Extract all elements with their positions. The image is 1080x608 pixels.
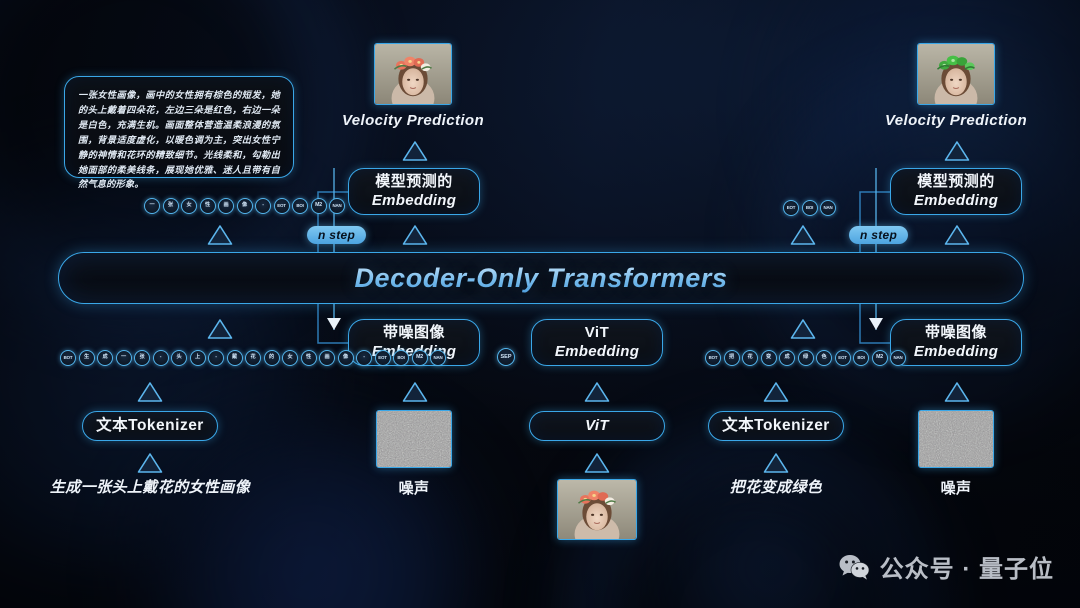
token-circle: -	[255, 198, 271, 214]
token-circle: 张	[134, 350, 150, 366]
left-text-tokenizer-box[interactable]: 文本Tokenizer	[82, 411, 218, 441]
right-upper-token-row: EOTBOINAN	[783, 200, 836, 216]
token-circle: 把	[724, 350, 740, 366]
token-circle: NAN	[430, 350, 446, 366]
right-predicted-embedding-cn: 模型预测的	[917, 173, 995, 192]
diagram-canvas: 一张女性画像，画中的女性拥有棕色的短发，她的头上戴着四朵花，左边三朵是红色，右边…	[0, 0, 1080, 608]
token-circle: 色	[816, 350, 832, 366]
watermark: 公众号 · 量子位	[839, 549, 1054, 584]
token-circle: 生	[79, 350, 95, 366]
token-circle: M2	[311, 198, 327, 214]
token-circle: EOT	[835, 350, 851, 366]
token-circle: EOT	[783, 200, 799, 216]
left-predicted-embedding-cn: 模型预测的	[375, 173, 453, 192]
right-noisy-embedding-cn: 带噪图像	[925, 324, 987, 343]
left-noise-image	[376, 410, 452, 468]
left-output-image	[374, 43, 452, 105]
right-velocity-prediction-label: Velocity Prediction	[856, 112, 1056, 129]
vit-embedding-cn: ViT	[585, 324, 610, 343]
token-circle: 成	[779, 350, 795, 366]
token-circle: 画	[319, 350, 335, 366]
left-n-step-badge: n step	[307, 226, 366, 244]
token-circle: NAN	[820, 200, 836, 216]
token-circle: 戴	[227, 350, 243, 366]
left-lower-token-row: BOT生成一张-头上-戴花的女性画像-EOTBOIM2NAN	[60, 350, 446, 366]
decoder-only-transformers-title: Decoder-Only Transformers	[354, 263, 727, 294]
token-circle: 花	[245, 350, 261, 366]
token-circle: 像	[237, 198, 253, 214]
token-circle: BOT	[60, 350, 76, 366]
vit-input-image	[557, 479, 637, 540]
right-noise-image	[918, 410, 994, 468]
right-noisy-embedding-en: Embedding	[914, 343, 998, 362]
token-circle: 的	[264, 350, 280, 366]
right-lower-token-row: BOT把花变成绿色EOTBOIM2NAN	[705, 350, 906, 366]
token-circle: 张	[163, 198, 179, 214]
right-output-image	[917, 43, 995, 105]
token-circle: 成	[97, 350, 113, 366]
sep-token-circle: SEP	[497, 348, 515, 366]
right-predicted-embedding-box[interactable]: 模型预测的 Embedding	[890, 168, 1022, 215]
token-circle: NAN	[890, 350, 906, 366]
left-velocity-prediction-label: Velocity Prediction	[313, 112, 513, 129]
token-circle: 花	[742, 350, 758, 366]
left-user-prompt-text: 生成一张头上戴花的女性画像	[30, 476, 270, 497]
vit-embedding-en: Embedding	[555, 343, 639, 362]
token-circle: BOI	[292, 198, 308, 214]
wechat-icon	[839, 554, 870, 580]
token-circle: BOI	[393, 350, 409, 366]
prompt-description-text: 一张女性画像，画中的女性拥有棕色的短发，她的头上戴着四朵花，左边三朵是红色，右边…	[78, 88, 280, 192]
vit-embedding-box[interactable]: ViT Embedding	[531, 319, 663, 366]
left-noise-label: 噪声	[354, 477, 474, 498]
left-text-tokenizer-label: 文本Tokenizer	[96, 416, 204, 435]
left-predicted-embedding-en: Embedding	[372, 192, 456, 211]
left-predicted-embedding-box[interactable]: 模型预测的 Embedding	[348, 168, 480, 215]
token-circle: -	[153, 350, 169, 366]
prompt-description-card: 一张女性画像，画中的女性拥有棕色的短发，她的头上戴着四朵花，左边三朵是红色，右边…	[64, 76, 294, 178]
token-circle: -	[356, 350, 372, 366]
token-circle: 头	[171, 350, 187, 366]
token-circle: BOI	[853, 350, 869, 366]
token-circle: 女	[181, 198, 197, 214]
vit-label: ViT	[585, 417, 609, 436]
left-upper-token-row: 一张女性画像-EOTBOIM2NAN	[144, 198, 345, 214]
token-circle: 像	[338, 350, 354, 366]
token-circle: EOT	[274, 198, 290, 214]
token-circle: M2	[872, 350, 888, 366]
right-noise-label: 噪声	[896, 477, 1016, 498]
watermark-text: 公众号 · 量子位	[880, 549, 1054, 584]
vit-box[interactable]: ViT	[529, 411, 665, 441]
sep-token-label: SEP	[500, 354, 511, 360]
right-n-step-badge: n step	[849, 226, 908, 244]
right-predicted-embedding-en: Embedding	[914, 192, 998, 211]
decoder-only-transformers-bar[interactable]: Decoder-Only Transformers	[58, 252, 1024, 304]
token-circle: -	[208, 350, 224, 366]
token-circle: BOT	[705, 350, 721, 366]
right-text-tokenizer-label: 文本Tokenizer	[722, 416, 830, 435]
token-circle: EOT	[375, 350, 391, 366]
token-circle: 变	[761, 350, 777, 366]
token-circle: BOI	[802, 200, 818, 216]
right-user-prompt-text: 把花变成绿色	[696, 476, 856, 497]
token-circle: 性	[200, 198, 216, 214]
token-circle: NAN	[329, 198, 345, 214]
token-circle: 一	[116, 350, 132, 366]
token-circle: 上	[190, 350, 206, 366]
right-text-tokenizer-box[interactable]: 文本Tokenizer	[708, 411, 844, 441]
token-circle: 画	[218, 198, 234, 214]
token-circle: 一	[144, 198, 160, 214]
token-circle: 性	[301, 350, 317, 366]
left-noisy-embedding-cn: 带噪图像	[383, 324, 445, 343]
right-noisy-image-embedding-box[interactable]: 带噪图像 Embedding	[890, 319, 1022, 366]
token-circle: 女	[282, 350, 298, 366]
token-circle: M2	[412, 350, 428, 366]
token-circle: 绿	[798, 350, 814, 366]
